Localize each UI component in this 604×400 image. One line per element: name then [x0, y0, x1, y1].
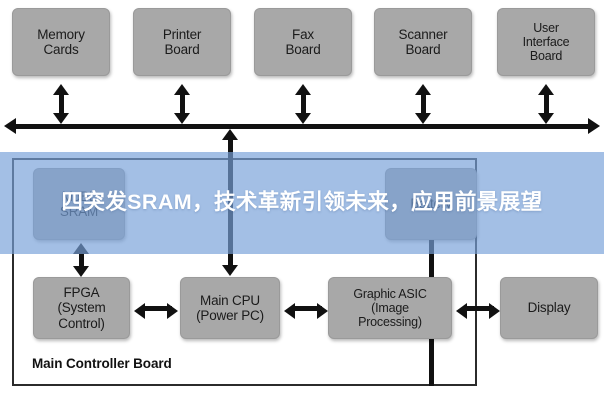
caption-banner-overlay: 四突发SRAM，技术革新引领未来，应用前景展望 [0, 152, 604, 254]
block-main-cpu: Main CPU (Power PC) [180, 277, 280, 339]
block-scanner-board: Scanner Board [374, 8, 472, 76]
block-fpga: FPGA (System Control) [33, 277, 130, 339]
arrowhead-down-memory-cards [53, 113, 69, 124]
block-graphic-asic: Graphic ASIC (Image Processing) [328, 277, 452, 339]
main-controller-board-label: Main Controller Board [32, 356, 172, 371]
arrowhead-down-fax-board [295, 113, 311, 124]
block-user-interface-board: User Interface Board [497, 8, 595, 76]
bus-arrowhead-right [588, 118, 600, 134]
arrowhead-down-main-cpu-bus [222, 265, 238, 276]
arrowhead-right-cpu-asic [317, 303, 328, 319]
system-bus [15, 124, 589, 129]
arrowhead-right-asic-display [489, 303, 500, 319]
caption-banner-text: 四突发SRAM，技术革新引领未来，应用前景展望 [32, 188, 572, 217]
arrowhead-down-mobl-sram [73, 266, 89, 277]
arrowhead-down-printer-board [174, 113, 190, 124]
diagram-canvas: Memory Cards Printer Board Fax Board Sca… [0, 0, 604, 400]
block-memory-cards: Memory Cards [12, 8, 110, 76]
block-display: Display [500, 277, 598, 339]
arrowhead-right-fpga-cpu [167, 303, 178, 319]
arrowhead-down-scanner-board [415, 113, 431, 124]
arrowhead-down-user-interface-board [538, 113, 554, 124]
block-fax-board: Fax Board [254, 8, 352, 76]
block-printer-board: Printer Board [133, 8, 231, 76]
